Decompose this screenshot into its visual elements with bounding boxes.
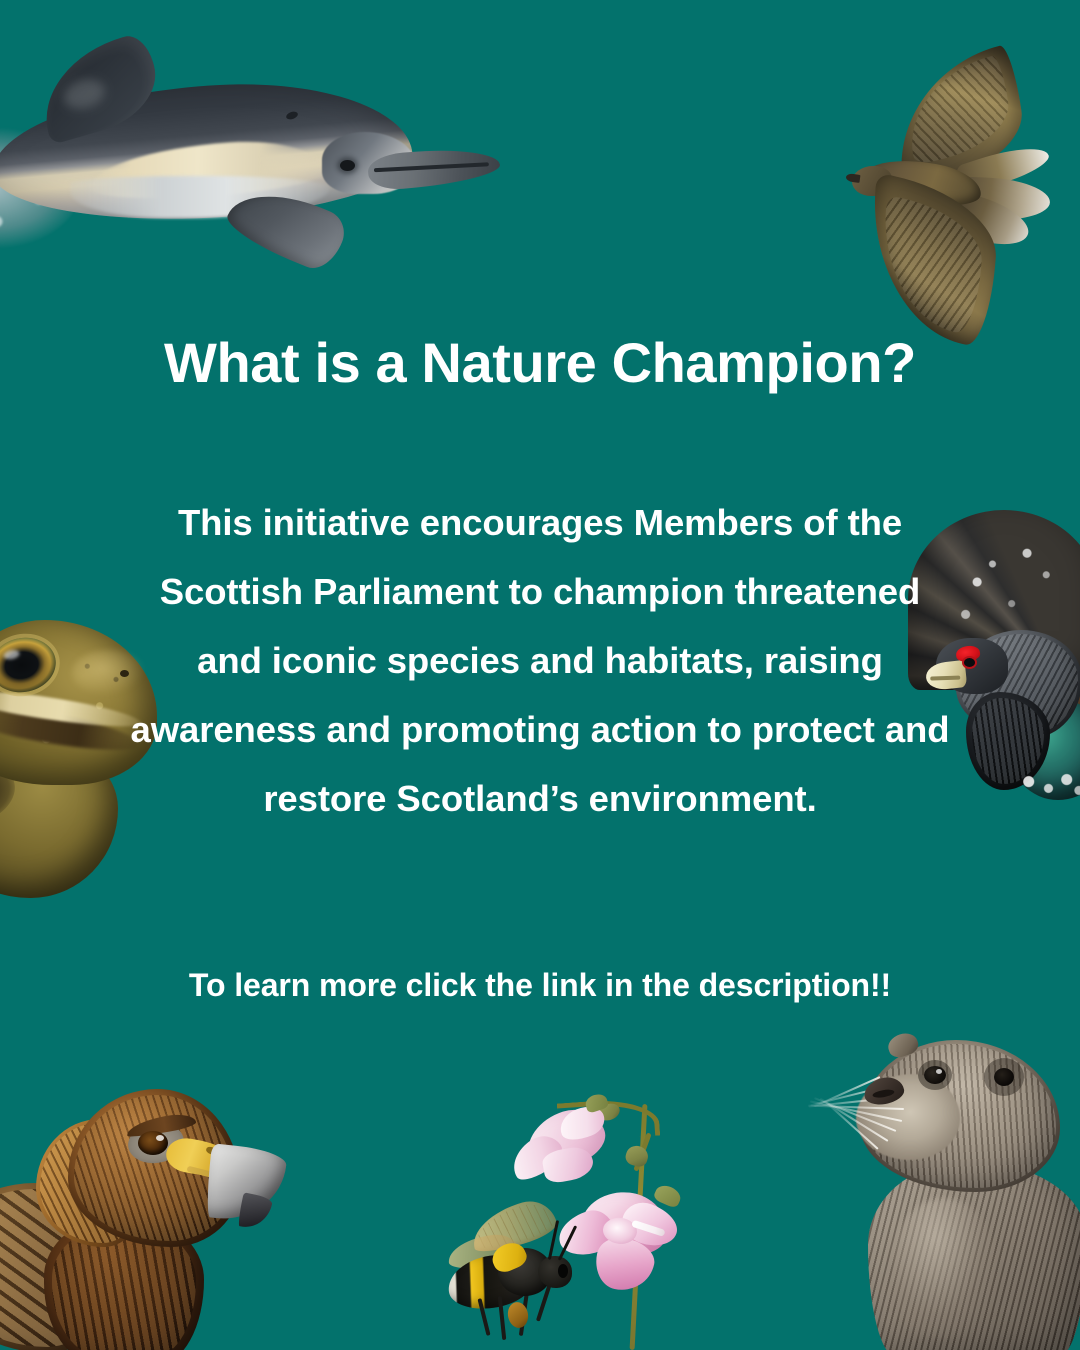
dolphin-eye [340, 160, 355, 171]
frog-image [0, 610, 167, 900]
page-title: What is a Nature Champion? [90, 332, 990, 395]
capercaillie-image [900, 510, 1080, 800]
dolphin-image [0, 8, 530, 288]
bumblebee [446, 1206, 596, 1338]
frog-snout-highlight [72, 650, 146, 696]
capercaillie-eye [964, 658, 975, 667]
eagle-beak-tip [237, 1192, 273, 1231]
otter-whisker [808, 1105, 904, 1110]
otter-whiskers [808, 1070, 924, 1166]
eagle-eye [138, 1131, 168, 1155]
swift-beak [846, 173, 861, 183]
capercaillie-white-speckles [1012, 768, 1080, 802]
bumblebee-and-twinflower-image [440, 1098, 700, 1350]
otter-chest-highlight [892, 1198, 996, 1338]
bumblebee-eye [558, 1264, 568, 1278]
frog-nostril [120, 670, 129, 677]
twinflower-lower-calyx [652, 1182, 683, 1209]
body-paragraph: This initiative encourages Members of th… [130, 488, 950, 833]
otter-eye-right [994, 1068, 1014, 1086]
otter-image [826, 1022, 1080, 1350]
call-to-action-text: To learn more click the link in the desc… [130, 963, 950, 1007]
twinflower-upper-calyx [584, 1092, 610, 1114]
golden-eagle-image [0, 1075, 310, 1350]
otter-eye-left [924, 1066, 946, 1084]
bumblebee-antenna-right [558, 1225, 577, 1260]
otter-whisker [810, 1100, 902, 1122]
swift-image [846, 34, 1080, 324]
nature-champion-poster: What is a Nature Champion? This initiati… [0, 0, 1080, 1350]
